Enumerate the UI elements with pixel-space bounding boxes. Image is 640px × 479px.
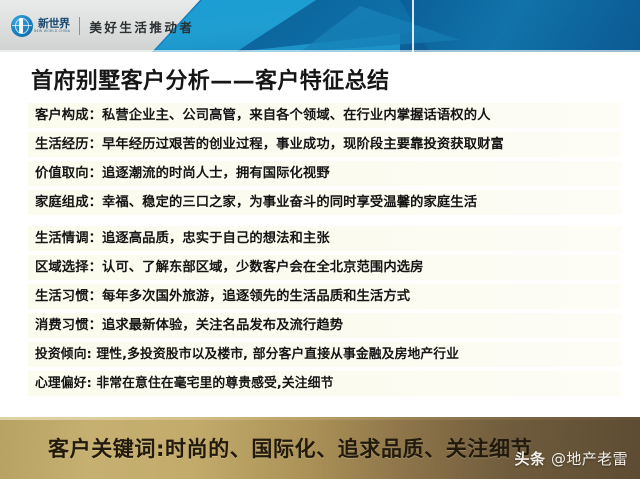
header-dark-shape-left	[236, 0, 436, 52]
brand-logo: 新世界 NEW WORLD CHINA 美好生活推动者	[10, 13, 194, 39]
keywords-banner: 客户关键词:时尚的、国际化、追求品质、关注细节 头条 @地产老雷	[0, 417, 640, 479]
slide-header-band: 新世界 NEW WORLD CHINA 美好生活推动者	[0, 0, 640, 52]
brand-name-en: NEW WORLD CHINA	[34, 29, 70, 34]
list-item: 家庭组成：幸福、稳定的三口之家，为事业奋斗的同时享受温馨的家庭生活	[28, 190, 622, 215]
brand-wordmark: 新世界 NEW WORLD CHINA	[34, 18, 70, 34]
list-item-text: 价值取向：追逐潮流的时尚人士，拥有国际化视野	[35, 164, 616, 183]
list-item-text: 生活习惯：每年多次国外旅游，追逐领先的生活品质和生活方式	[35, 287, 616, 306]
list-item: 心理偏好: 非常在意住在毫宅里的尊贵感受,关注细节	[28, 371, 622, 396]
watermark-handle: @地产老雷	[551, 450, 628, 468]
list-item-text: 家庭组成：幸福、稳定的三口之家，为事业奋斗的同时享受温馨的家庭生活	[35, 193, 616, 212]
watermark-source: 头条	[515, 450, 546, 468]
header-dark-shape-right	[400, 0, 640, 52]
globe-logo-icon	[10, 14, 34, 38]
header-triangle-shape	[300, 6, 460, 52]
list-item: 消费习惯：追求最新体验，关注名品发布及流行趋势	[28, 313, 622, 338]
brand-slogan: 美好生活推动者	[89, 17, 194, 36]
banner-top-highlight	[0, 417, 640, 420]
list-item-text: 生活经历：早年经历过艰苦的创业过程，事业成功，现阶段主要靠投资获取财富	[35, 135, 616, 154]
header-divider-line	[412, 0, 414, 52]
logo-separator	[79, 17, 80, 35]
list-item-text: 生活情调：追逐高品质，忠实于自己的想法和主张	[35, 229, 616, 248]
list-item-text: 消费习惯：追求最新体验，关注名品发布及流行趋势	[35, 316, 616, 335]
list-item: 区域选择：认可、了解东部区域，少数客户会在全北京范围内选房	[28, 255, 622, 280]
list-item: 投资倾向: 理性,多投资股市以及楼市, 部分客户直接从事金融及房地产行业	[28, 342, 622, 367]
list-item: 生活情调：追逐高品质，忠实于自己的想法和主张	[28, 226, 622, 251]
globe-bar-shape	[19, 18, 23, 33]
list-item-text: 区域选择：认可、了解东部区域，少数客户会在全北京范围内选房	[35, 258, 616, 277]
brand-name-cn: 新世界	[38, 18, 70, 29]
list-item-text: 投资倾向: 理性,多投资股市以及楼市, 部分客户直接从事金融及房地产行业	[35, 345, 616, 364]
list-item: 生活经历：早年经历过艰苦的创业过程，事业成功，现阶段主要靠投资获取财富	[28, 132, 622, 157]
list-item: 生活习惯：每年多次国外旅游，追逐领先的生活品质和生活方式	[28, 284, 622, 309]
slide-canvas: 新世界 NEW WORLD CHINA 美好生活推动者 首府别墅客户分析——客户…	[0, 0, 640, 479]
list-item: 价值取向：追逐潮流的时尚人士，拥有国际化视野	[28, 161, 622, 186]
header-bottom-rule	[0, 50, 640, 52]
page-title: 首府别墅客户分析——客户特征总结	[31, 63, 389, 95]
watermark: 头条 @地产老雷	[515, 448, 628, 469]
list-item-text: 心理偏好: 非常在意住在毫宅里的尊贵感受,关注细节	[35, 374, 616, 393]
list-item: 客户构成：私营企业主、公司高管，来自各个领域、在行业内掌握话语权的人	[28, 103, 622, 128]
keywords-text: 客户关键词:时尚的、国际化、追求品质、关注细节	[48, 433, 532, 463]
list-item-text: 客户构成：私营企业主、公司高管，来自各个领域、在行业内掌握话语权的人	[35, 106, 616, 125]
characteristics-list: 客户构成：私营企业主、公司高管，来自各个领域、在行业内掌握话语权的人 生活经历：…	[28, 103, 622, 400]
